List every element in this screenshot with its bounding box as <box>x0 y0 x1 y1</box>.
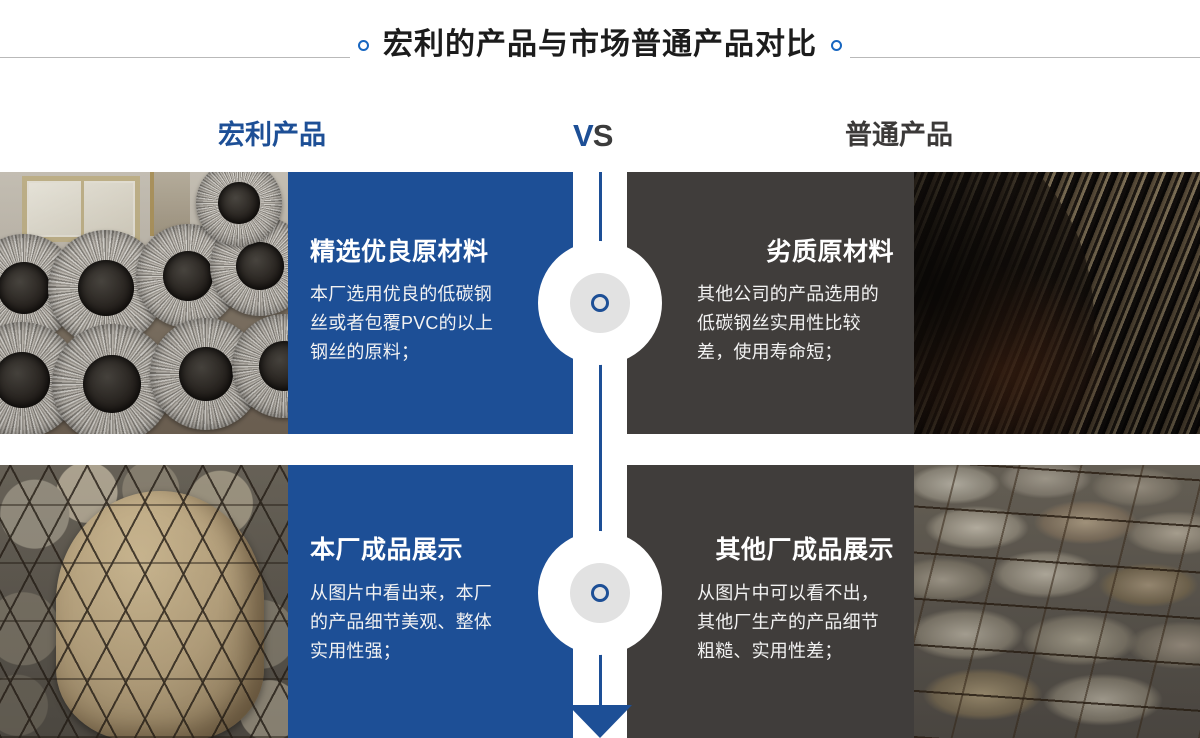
photo-gabion-stone-wall <box>914 465 1200 738</box>
center-node-1 <box>538 241 662 365</box>
page-title: 宏利的产品与市场普通产品对比 <box>383 30 817 60</box>
card-heading: 其他厂成品展示 <box>715 537 894 565</box>
card-own-row-2: 本厂成品展示 从图片中看出来，本厂的产品细节美观、整体实用性强； <box>288 465 573 738</box>
triangle-down-icon <box>568 705 632 738</box>
card-body-text: 从图片中看出来，本厂的产品细节美观、整体实用性强； <box>310 579 503 666</box>
circle-node-icon <box>591 584 609 602</box>
card-heading: 本厂成品展示 <box>310 537 463 565</box>
card-ordinary-row-2: 其他厂成品展示 从图片中可以看不出，其他厂生产的产品细节粗糙、实用性差； <box>627 465 916 738</box>
comparison-infographic: 宏利的产品与市场普通产品对比 宏利产品 VS 普通产品 <box>0 0 1200 738</box>
circle-ring-icon-left <box>358 40 369 51</box>
card-body-text: 其他公司的产品选用的低碳钢丝实用性比较差，使用寿命短； <box>697 280 894 367</box>
wire-mesh-overlay <box>0 465 290 738</box>
card-heading: 精选优良原材料 <box>310 239 489 267</box>
circle-node-icon <box>591 294 609 312</box>
photo-wire-coils-warehouse <box>0 172 290 434</box>
photo-rusty-wire-coil <box>914 172 1200 434</box>
card-own-row-1: 精选优良原材料 本厂选用优良的低碳钢丝或者包覆PVC的以上钢丝的原料； <box>288 172 573 434</box>
center-node-2 <box>538 531 662 655</box>
card-body-text: 从图片中可以看不出，其他厂生产的产品细节粗糙、实用性差； <box>697 579 894 666</box>
wire-mesh-overlay <box>914 465 1200 738</box>
card-heading: 劣质原材料 <box>766 239 894 267</box>
circle-ring-icon-right <box>831 40 842 51</box>
photo-gabion-boulder <box>0 465 290 738</box>
card-body-text: 本厂选用优良的低碳钢丝或者包覆PVC的以上钢丝的原料； <box>310 280 503 367</box>
card-ordinary-row-1: 劣质原材料 其他公司的产品选用的低碳钢丝实用性比较差，使用寿命短； <box>627 172 916 434</box>
